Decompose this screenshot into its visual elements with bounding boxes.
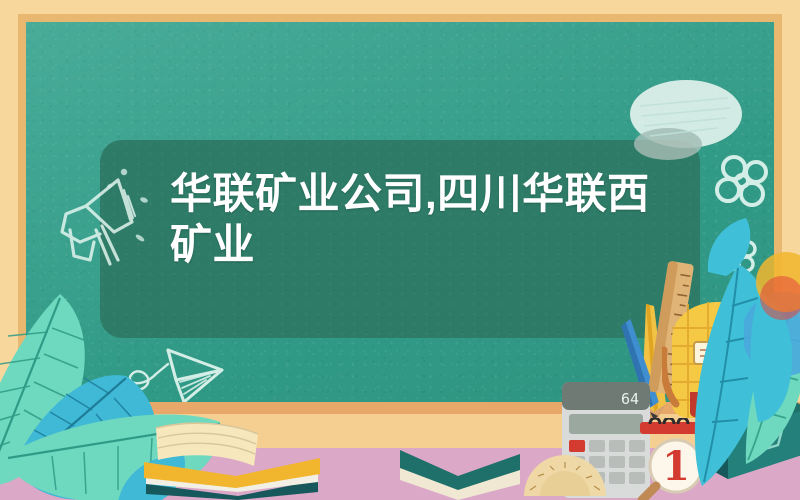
protractor-icon	[520, 440, 610, 500]
calculator-display-value: 64	[621, 390, 639, 408]
leaf-decoration	[698, 208, 768, 278]
megaphone-icon	[40, 160, 160, 280]
book-item	[400, 410, 520, 500]
books-stack	[142, 422, 322, 500]
page-title: 华联矿业公司,四川华联西矿业	[170, 168, 650, 270]
flower-icon	[712, 152, 774, 214]
poster-canvas: 64	[0, 0, 800, 500]
